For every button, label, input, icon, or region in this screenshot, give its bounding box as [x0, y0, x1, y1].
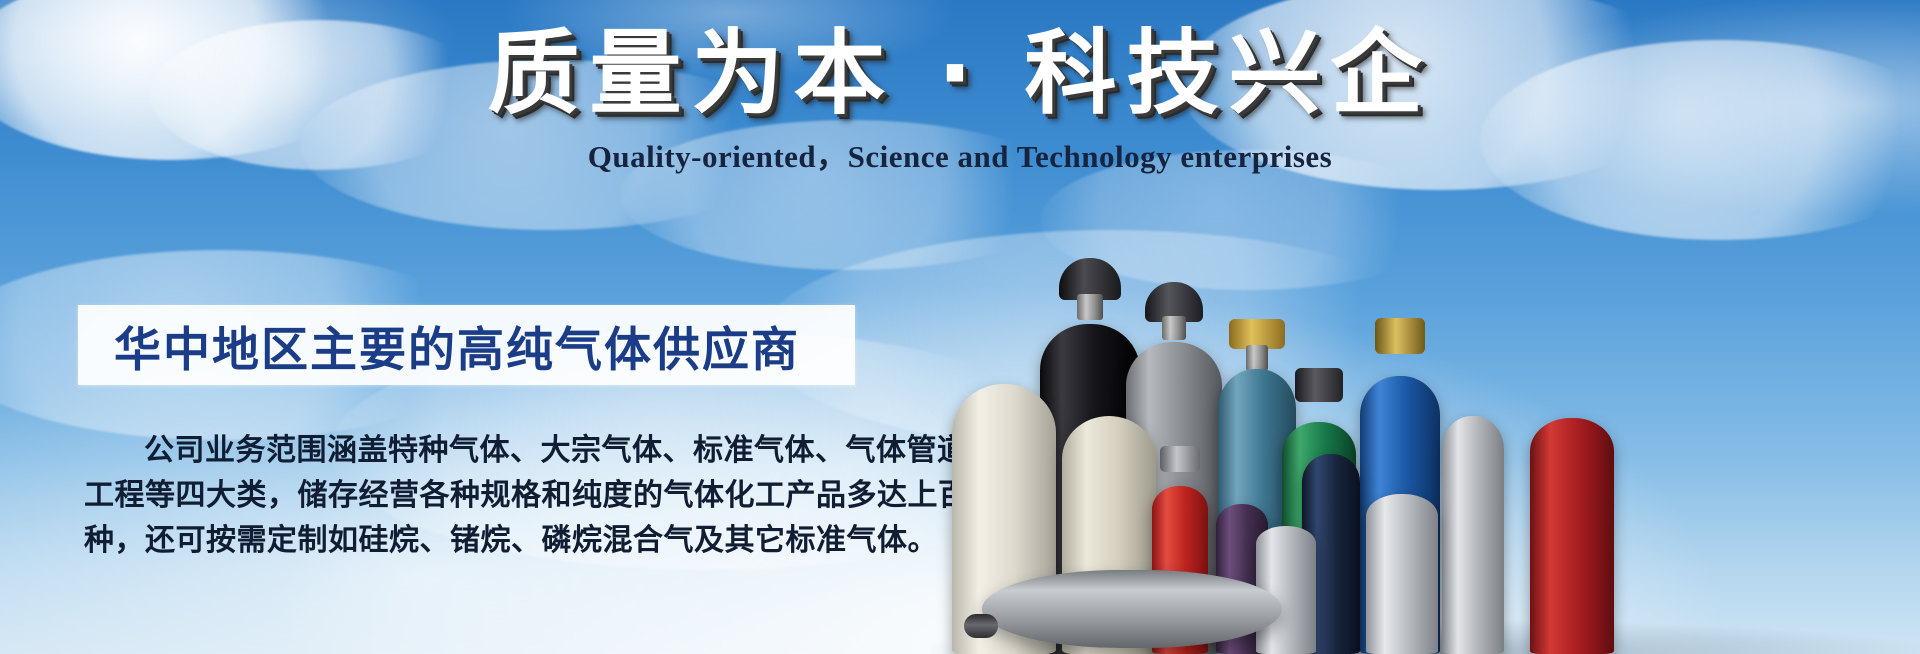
- description-paragraph: 公司业务范围涵盖特种气体、大宗气体、标准气体、气体管道 工程等四大类，储存经营各…: [84, 428, 874, 563]
- horizontal-cylinder-valve: [964, 614, 998, 638]
- aluminium-cylinder: [1442, 416, 1504, 654]
- cylinder-neck: [1077, 294, 1103, 320]
- highlight-text: 华中地区主要的高纯气体供应商: [78, 311, 800, 380]
- promotional-banner: 质量为本 · 科技兴企 Quality-oriented，Science and…: [0, 0, 1920, 654]
- cylinder-body: [1366, 494, 1438, 654]
- cylinder-body: [1442, 416, 1504, 654]
- cylinder-valve: [1295, 368, 1343, 402]
- cylinder-valve: [1160, 446, 1200, 472]
- gas-cylinder-group: [930, 150, 1920, 654]
- silver-short-cylinder: [1366, 494, 1438, 654]
- cylinder-neck: [1246, 345, 1268, 371]
- paragraph-line: 种，还可按需定制如硅烷、锗烷、磷烷混合气及其它标准气体。: [84, 518, 874, 563]
- cylinder-neck: [1162, 316, 1186, 340]
- highlight-box: 华中地区主要的高纯气体供应商: [78, 305, 855, 385]
- horizontal-grey-cylinder: [982, 570, 1282, 648]
- cylinder-body: [1530, 418, 1614, 654]
- paragraph-line: 公司业务范围涵盖特种气体、大宗气体、标准气体、气体管道: [84, 428, 874, 473]
- cylinder-valve: [1375, 318, 1425, 354]
- crimson-cylinder: [1530, 418, 1614, 654]
- paragraph-line: 工程等四大类，储存经营各种规格和纯度的气体化工产品多达上百: [84, 473, 874, 518]
